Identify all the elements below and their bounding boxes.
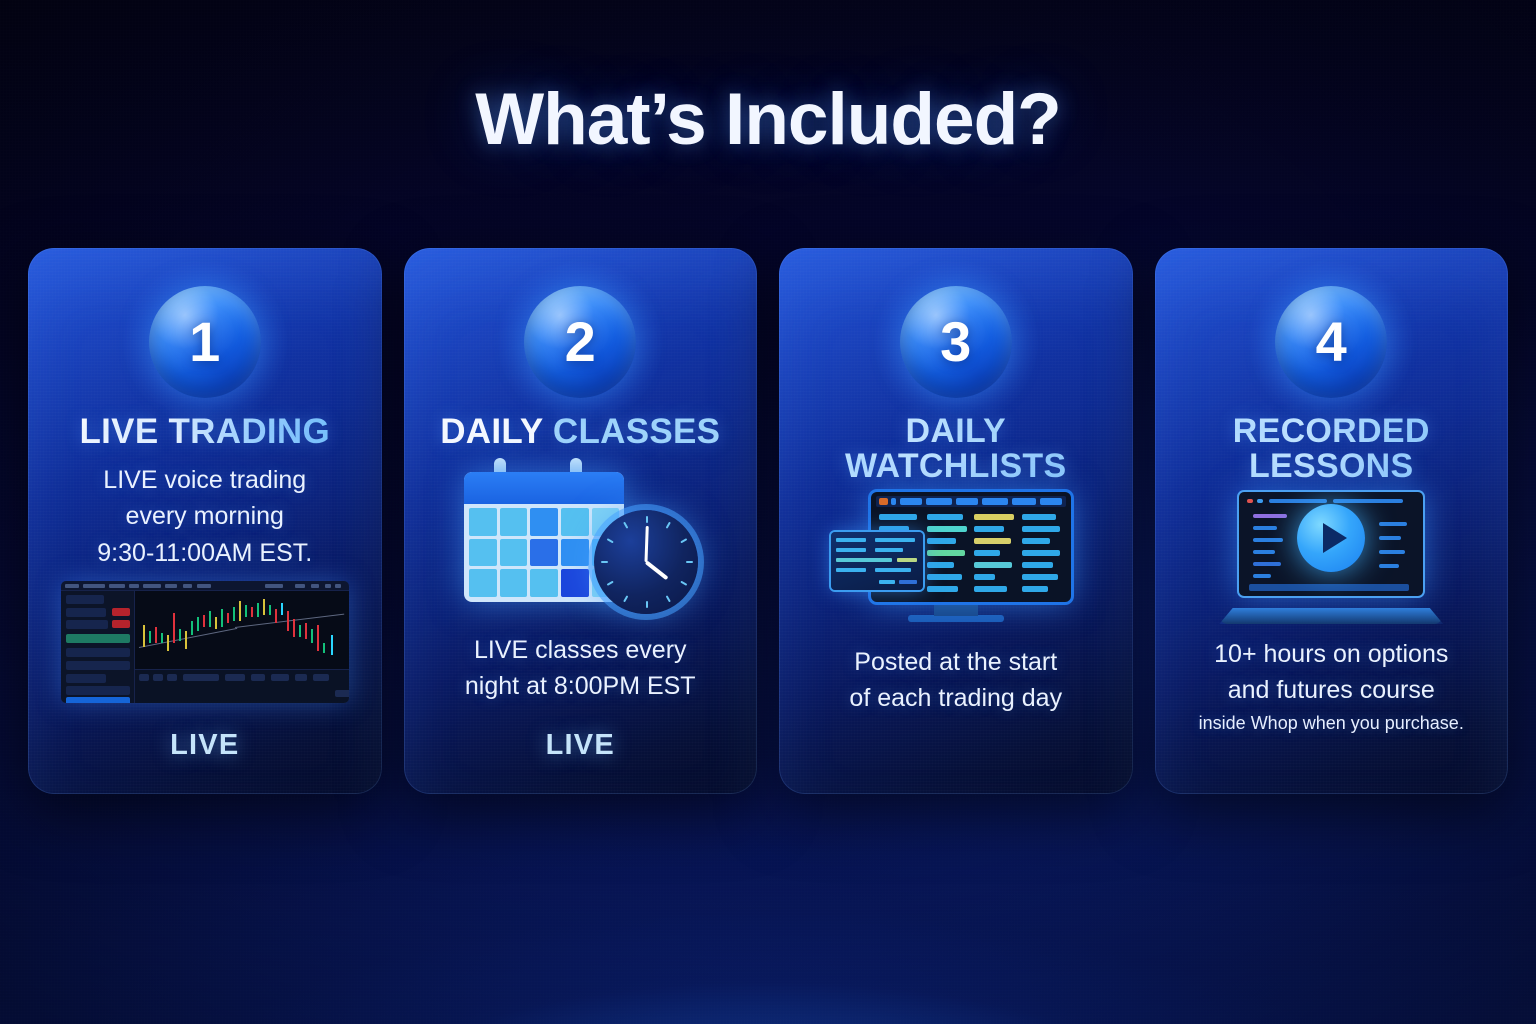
monitor-stand bbox=[934, 600, 978, 616]
feature-card-recorded-lessons[interactable]: 4 RECORDED LESSONS bbox=[1155, 248, 1509, 794]
terminal-topbar bbox=[61, 581, 349, 591]
card-body-line: 9:30-11:00AM EST. bbox=[97, 535, 312, 571]
calendar-clock-icon bbox=[462, 456, 698, 614]
step-number-badge: 2 bbox=[524, 286, 636, 398]
card-body-line: every morning bbox=[97, 498, 312, 534]
clock-minute-hand bbox=[645, 526, 649, 562]
clock-hour-hand bbox=[645, 560, 669, 580]
laptop-base bbox=[1219, 608, 1443, 624]
live-badge: LIVE bbox=[170, 729, 239, 762]
feature-card-daily-classes[interactable]: 2 DAILY CLASSES bbox=[404, 248, 758, 794]
watchlist-popup-window bbox=[831, 532, 923, 590]
card-heading: DAILY WATCHLISTS bbox=[845, 414, 1066, 484]
monitor-base bbox=[908, 615, 1004, 622]
card-body: 10+ hours on options and futures course bbox=[1214, 636, 1448, 709]
page-title: What’s Included? bbox=[0, 78, 1536, 161]
card-heading: RECORDED LESSONS bbox=[1233, 414, 1430, 484]
feature-card-daily-watchlists[interactable]: 3 DAILY WATCHLISTS bbox=[779, 248, 1133, 794]
badge-number: 3 bbox=[940, 314, 971, 370]
card-body-line: of each trading day bbox=[849, 680, 1062, 716]
step-number-badge: 3 bbox=[900, 286, 1012, 398]
live-badge: LIVE bbox=[546, 729, 615, 762]
feature-card-row: 1 LIVE TRADING LIVE voice trading every … bbox=[28, 248, 1508, 794]
badge-number: 1 bbox=[189, 314, 220, 370]
monitor-toolbar bbox=[876, 496, 1066, 507]
badge-circle: 1 bbox=[149, 286, 261, 398]
card-heading-part-white: DAILY bbox=[440, 412, 553, 451]
trading-terminal-icon bbox=[61, 581, 349, 703]
candlestick-chart bbox=[135, 591, 349, 669]
badge-number: 2 bbox=[565, 314, 596, 370]
monitor-watchlist-icon bbox=[831, 490, 1081, 630]
badge-circle: 4 bbox=[1275, 286, 1387, 398]
terminal-footer bbox=[135, 669, 349, 703]
card-body-line: 10+ hours on options bbox=[1214, 636, 1448, 672]
clock-icon bbox=[594, 510, 698, 614]
card-body: Posted at the start of each trading day bbox=[849, 644, 1062, 717]
calendar-header bbox=[464, 472, 624, 504]
card-body-line: night at 8:00PM EST bbox=[465, 668, 696, 704]
card-body: LIVE classes every night at 8:00PM EST bbox=[465, 632, 696, 705]
card-body-line: LIVE classes every bbox=[465, 632, 696, 668]
badge-circle: 3 bbox=[900, 286, 1012, 398]
card-heading-line: WATCHLISTS bbox=[845, 449, 1066, 484]
laptop-screen bbox=[1239, 492, 1423, 596]
laptop-play-video-icon bbox=[1215, 492, 1447, 624]
card-heading-line: LESSONS bbox=[1233, 449, 1430, 484]
card-body: LIVE voice trading every morning 9:30-11… bbox=[97, 462, 312, 571]
card-body-line: and futures course bbox=[1214, 672, 1448, 708]
play-button-icon[interactable] bbox=[1297, 504, 1365, 572]
card-body-line: LIVE voice trading bbox=[97, 462, 312, 498]
card-body-line: Posted at the start bbox=[849, 644, 1062, 680]
feature-card-live-trading[interactable]: 1 LIVE TRADING LIVE voice trading every … bbox=[28, 248, 382, 794]
badge-circle: 2 bbox=[524, 286, 636, 398]
card-subnote: inside Whop when you purchase. bbox=[1199, 712, 1464, 735]
badge-number: 4 bbox=[1316, 314, 1347, 370]
step-number-badge: 1 bbox=[149, 286, 261, 398]
terminal-sidebar bbox=[61, 591, 135, 703]
step-number-badge: 4 bbox=[1275, 286, 1387, 398]
